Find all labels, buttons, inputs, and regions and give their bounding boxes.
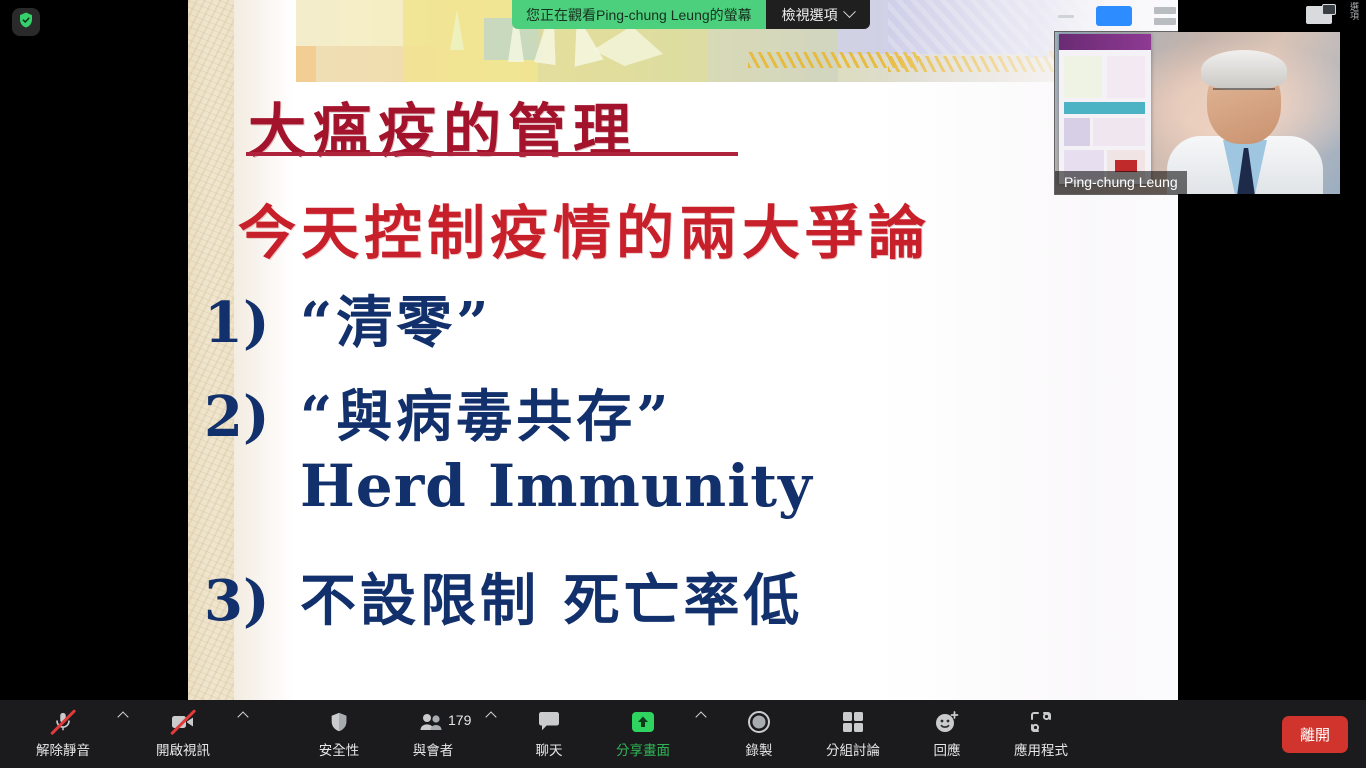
security-button[interactable]: 安全性: [294, 706, 384, 762]
gallery-view-icon: [1154, 7, 1176, 25]
chat-label: 聊天: [536, 739, 563, 759]
record-icon: [747, 710, 771, 734]
chevron-up-icon: [695, 711, 706, 722]
chevron-up-icon: [237, 711, 248, 722]
bullet-number: 2): [204, 384, 300, 450]
shield-check-icon: [17, 11, 35, 34]
reactions-label: 回應: [934, 739, 961, 759]
toolbar-left-group: 解除靜音 開啟視訊: [0, 699, 252, 768]
mute-button-label: 解除靜音: [36, 739, 90, 759]
slide-bullet-1: 1) “清零”: [204, 278, 492, 359]
view-options-label: 檢視選項: [782, 5, 838, 25]
apps-label: 應用程式: [1014, 739, 1068, 759]
slide-subtitle: 今天控制疫情的兩大爭論: [238, 186, 931, 270]
participants-button[interactable]: 179 與會者: [388, 706, 478, 762]
breakout-rooms-icon: [841, 710, 865, 734]
participant-name-label: Ping-chung Leung: [1055, 171, 1187, 194]
herd-immunity-text: Herd Immunity: [300, 452, 813, 520]
toolbar-right-group: 離開: [1282, 716, 1366, 753]
bullet-text: “清零”: [300, 278, 492, 359]
chevron-up-icon: [485, 711, 496, 722]
mute-button[interactable]: 解除靜音: [18, 706, 108, 762]
microphone-muted-icon: [52, 710, 74, 734]
minimize-icon: [1058, 15, 1074, 18]
share-screen-icon: [630, 710, 656, 734]
breakout-rooms-label: 分組討論: [826, 739, 880, 759]
share-notice-text: 您正在觀看Ping-chung Leung的螢幕: [512, 0, 766, 29]
speaker-view-icon: [1104, 10, 1124, 22]
record-button[interactable]: 錄製: [714, 706, 804, 762]
chat-button[interactable]: 聊天: [504, 706, 594, 762]
minimize-button[interactable]: [1058, 15, 1074, 18]
presentation-slide: 大瘟疫的管理 今天控制疫情的兩大爭論 1) “清零” 2) “與病毒共存” He…: [188, 0, 1178, 700]
leave-meeting-button[interactable]: 離開: [1282, 716, 1348, 753]
participants-icon: 179: [418, 710, 448, 734]
apps-button[interactable]: 應用程式: [996, 706, 1086, 762]
camera-off-icon: [170, 710, 196, 734]
meeting-toolbar: 解除靜音 開啟視訊: [0, 700, 1366, 768]
picture-in-picture-button[interactable]: [1306, 4, 1336, 26]
reactions-icon: [934, 710, 960, 734]
chat-bubble-icon: [537, 710, 561, 734]
research-poster: [1059, 34, 1151, 184]
audio-options-caret[interactable]: [114, 699, 132, 768]
start-video-button[interactable]: 開啟視訊: [138, 706, 228, 762]
reactions-button[interactable]: 回應: [902, 706, 992, 762]
bullet-number: 1): [204, 290, 300, 356]
bullet-text: “與病毒共存”: [300, 372, 672, 453]
window-view-controls: [1058, 6, 1176, 26]
zoom-meeting-window: 大瘟疫的管理 今天控制疫情的兩大爭論 1) “清零” 2) “與病毒共存” He…: [0, 0, 1366, 768]
screen-share-banner: 您正在觀看Ping-chung Leung的螢幕 檢視選項: [512, 0, 870, 29]
chevron-up-icon: [117, 711, 128, 722]
view-options-button[interactable]: 檢視選項: [766, 0, 870, 29]
shared-screen-stage: 大瘟疫的管理 今天控制疫情的兩大爭論 1) “清零” 2) “與病毒共存” He…: [0, 0, 1366, 700]
share-options-caret[interactable]: [692, 699, 710, 768]
record-label: 錄製: [746, 739, 773, 759]
participants-caret[interactable]: [482, 699, 500, 768]
slide-content: 大瘟疫的管理 今天控制疫情的兩大爭論 1) “清零” 2) “與病毒共存” He…: [188, 0, 1178, 700]
bullet-text: 不設限制 死亡率低: [300, 556, 804, 637]
share-screen-button[interactable]: 分享畫面: [598, 706, 688, 762]
participants-count: 179: [448, 712, 471, 728]
slide-title-underline: [246, 152, 738, 156]
encryption-badge[interactable]: [12, 8, 40, 36]
share-screen-label: 分享畫面: [616, 739, 670, 759]
security-label: 安全性: [319, 739, 360, 759]
pip-label: 選項: [1346, 2, 1358, 20]
toolbar-main-group: 安全性 179 與會者: [294, 699, 1086, 768]
slide-bullet-2: 2) “與病毒共存”: [204, 372, 672, 453]
apps-icon: [1029, 710, 1053, 734]
participants-label: 與會者: [413, 739, 454, 759]
breakout-rooms-button[interactable]: 分組討論: [808, 706, 898, 762]
start-video-label: 開啟視訊: [156, 739, 210, 759]
bullet-number: 3): [204, 568, 300, 634]
video-options-caret[interactable]: [234, 699, 252, 768]
speaker-view-button[interactable]: [1096, 6, 1132, 26]
speaker-video-panel[interactable]: Ping-chung Leung: [1055, 32, 1340, 194]
gallery-view-button[interactable]: [1154, 7, 1176, 25]
slide-bullet-3: 3) 不設限制 死亡率低: [204, 556, 804, 637]
chevron-down-icon: [843, 5, 856, 18]
shield-icon: [328, 710, 350, 734]
